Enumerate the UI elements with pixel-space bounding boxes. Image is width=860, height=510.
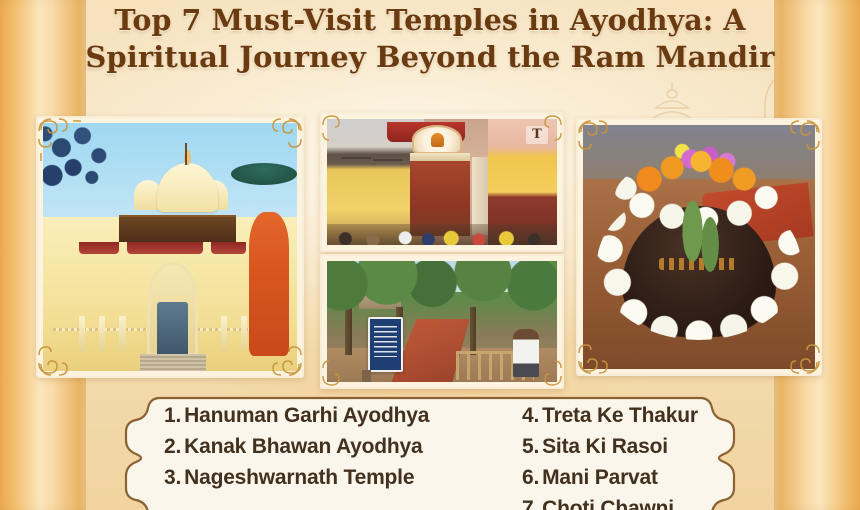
list-item-number: 2.	[164, 435, 181, 458]
mani-parvat-photo	[320, 254, 564, 389]
list-item[interactable]: 7.Choti Chawni	[522, 493, 716, 510]
poster-title: Top 7 Must-Visit Temples in Ayodhya: A S…	[0, 2, 860, 76]
list-item-label: Nageshwarnath Temple	[184, 466, 414, 489]
site-watermark-logo: T	[526, 126, 548, 144]
poster-canvas: Top 7 Must-Visit Temples in Ayodhya: A S…	[0, 0, 860, 510]
title-line-2: Spiritual Journey Beyond the Ram Mandir	[0, 39, 860, 76]
nageshwarnath-lingam-photo	[576, 118, 822, 376]
temple-list-column-2: 4.Treta Ke Thakur 5.Sita Ki Rasoi 6.Mani…	[522, 400, 716, 510]
temple-list-column-1: 1.Hanuman Garhi Ayodhya 2.Kanak Bhawan A…	[164, 400, 514, 510]
list-item[interactable]: 3.Nageshwarnath Temple	[164, 462, 514, 493]
list-item-number: 7.	[522, 497, 539, 510]
hanuman-garhi-street-photo: T	[320, 112, 564, 252]
list-item[interactable]: 5.Sita Ki Rasoi	[522, 431, 716, 462]
list-item-label: Treta Ke Thakur	[542, 404, 698, 427]
title-line-1: Top 7 Must-Visit Temples in Ayodhya: A	[0, 2, 860, 39]
list-item-label: Mani Parvat	[542, 466, 658, 489]
list-item-label: Kanak Bhawan Ayodhya	[184, 435, 422, 458]
list-item-number: 3.	[164, 466, 181, 489]
list-item-label: Hanuman Garhi Ayodhya	[184, 404, 429, 427]
temple-list-grid: 1.Hanuman Garhi Ayodhya 2.Kanak Bhawan A…	[164, 400, 716, 510]
list-item-number: 6.	[522, 466, 539, 489]
temple-list-panel: 1.Hanuman Garhi Ayodhya 2.Kanak Bhawan A…	[120, 392, 740, 510]
list-item[interactable]: 1.Hanuman Garhi Ayodhya	[164, 400, 514, 431]
list-item-label: Choti Chawni	[542, 497, 674, 510]
list-item[interactable]: 2.Kanak Bhawan Ayodhya	[164, 431, 514, 462]
list-item-number: 5.	[522, 435, 539, 458]
list-item[interactable]: 4.Treta Ke Thakur	[522, 400, 716, 431]
list-item[interactable]: 6.Mani Parvat	[522, 462, 716, 493]
kanak-bhawan-temple-photo	[36, 116, 304, 378]
list-item-label: Sita Ki Rasoi	[542, 435, 668, 458]
list-item-number: 4.	[522, 404, 539, 427]
photo-collage: T	[0, 104, 860, 389]
list-item-number: 1.	[164, 404, 181, 427]
